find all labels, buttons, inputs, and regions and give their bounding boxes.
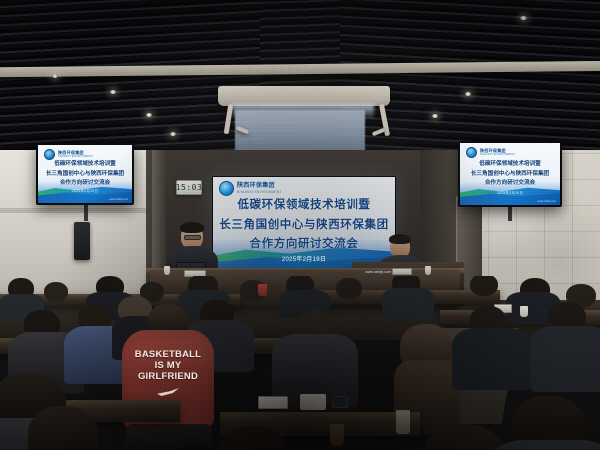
slide-date: 2025年2月19日 [497,190,523,195]
recessed-downlight [146,113,152,117]
slide-logo: 陕西环保集团 SHAANXI ENVIRONMENT [38,145,132,160]
paper-cup [330,424,344,446]
wall-trim-line [0,208,165,213]
slide-title-line-1: 低碳环保领域技术培训暨 [237,196,370,215]
recessed-downlight [520,16,527,20]
smartphone[interactable] [332,396,348,408]
slide-title-block: 低碳环保领域技术培训暨 长三角国创中心与陕西环保集团 合作方向研讨交流会 [38,160,132,188]
slide-title-line-3: 合作方向研讨交流会 [250,235,359,254]
presenter-nameplate [392,268,412,275]
audience-body-foreground [494,440,600,450]
recessed-downlight [465,92,471,96]
audience-head [44,282,68,302]
slide-logo-name: 陕西环保集团 [237,183,282,190]
wall-digital-clock: 15:03 [176,180,202,195]
projector-lens-glow [232,104,374,118]
recessed-downlight [52,74,58,78]
recessed-downlight [432,114,438,118]
audience-head-foreground [28,406,98,450]
slide-title-line-3: 合作方向研讨交流会 [485,179,535,188]
circular-emblem-icon [44,149,55,160]
slide-title-block: 低碳环保领域技术培训暨 长三角国创中心与陕西环保集团 合作方向研讨交流会 [213,196,395,254]
slatted-ceiling [0,0,600,152]
slide-title-block: 低碳环保领域技术培训暨 长三角国创中心与陕西环保集团 合作方向研讨交流会 [460,158,560,190]
recessed-downlight [170,132,176,136]
slide-title-line-1: 低碳环保领域技术培训暨 [479,160,541,169]
slide-title-line-2: 长三角国创中心与陕西环保集团 [471,170,549,179]
notebook [300,394,326,410]
audience-body [452,328,532,390]
slide-footer-url: www.sxhbjt.com [109,198,132,203]
slide-title-line-2: 长三角国创中心与陕西环保集团 [46,170,124,179]
slide-left: 陕西环保集团 SHAANXI ENVIRONMENT 低碳环保领域技术培训暨 长… [38,145,132,203]
desk-nameplate [258,396,288,409]
presenter-hair [180,222,204,233]
circular-emblem-icon [466,147,477,158]
clock-time: 15:03 [176,183,203,192]
slide-logo-subtitle: SHAANXI ENVIRONMENT [58,155,93,158]
slide-right: 陕西环保集团 SHAANXI ENVIRONMENT 低碳环保领域技术培训暨 长… [460,143,560,205]
paper-cup [164,266,170,275]
audience-head [336,278,362,299]
audience-head [470,276,498,296]
paper-cup [520,306,528,317]
right-tv-mount [508,207,512,221]
right-wall-tv[interactable]: 陕西环保集团 SHAANXI ENVIRONMENT 低碳环保领域技术培训暨 长… [458,141,562,207]
slide-date: 2025年2月19日 [72,188,98,193]
left-wall-tv[interactable]: 陕西环保集团 SHAANXI ENVIRONMENT 低碳环保领域技术培训暨 长… [36,143,134,205]
slide-title-line-2: 长三角国创中心与陕西环保集团 [219,216,388,235]
recessed-downlight [110,90,116,94]
presenter-glasses-icon [184,235,201,240]
wall-speaker-left [74,222,90,260]
slide-title-line-3: 合作方向研讨交流会 [60,179,110,188]
projector-mount [218,86,390,106]
slide-main: 陕西环保集团 SHAANXI ENVIRONMENT 低碳环保领域技术培训暨 长… [213,177,395,275]
slide-logo: 陕西环保集团 SHAANXI ENVIRONMENT [213,177,395,196]
audience-body [530,326,600,392]
circular-emblem-icon [219,181,234,196]
conference-room-photo: 陕西环保集团 SHAANXI ENVIRONMENT 低碳环保领域技术培训暨 长… [0,0,600,450]
slide-footer-url: www.sxhbjt.com [537,200,560,205]
paper-cup [425,266,431,275]
paper-cup [258,284,267,296]
slide-logo-subtitle: SHAANXI ENVIRONMENT [237,190,282,194]
left-tv-mount [84,205,88,221]
audience-area: BASKETBALL IS MY GIRLFRIEND [0,276,600,450]
main-projection-screen[interactable]: 陕西环保集团 SHAANXI ENVIRONMENT 低碳环保领域技术培训暨 长… [212,176,396,276]
audience-body [382,288,434,318]
chair-back [126,424,212,450]
slide-footer-url: www.sxhbjt.com [365,270,395,275]
slide-logo-subtitle: SHAANXI ENVIRONMENT [480,153,515,156]
water-bottle [396,410,410,434]
slide-title-line-1: 低碳环保领域技术培训暨 [54,160,116,169]
slide-logo: 陕西环保集团 SHAANXI ENVIRONMENT [460,143,560,158]
slide-date: 2025年2月19日 [282,254,326,263]
